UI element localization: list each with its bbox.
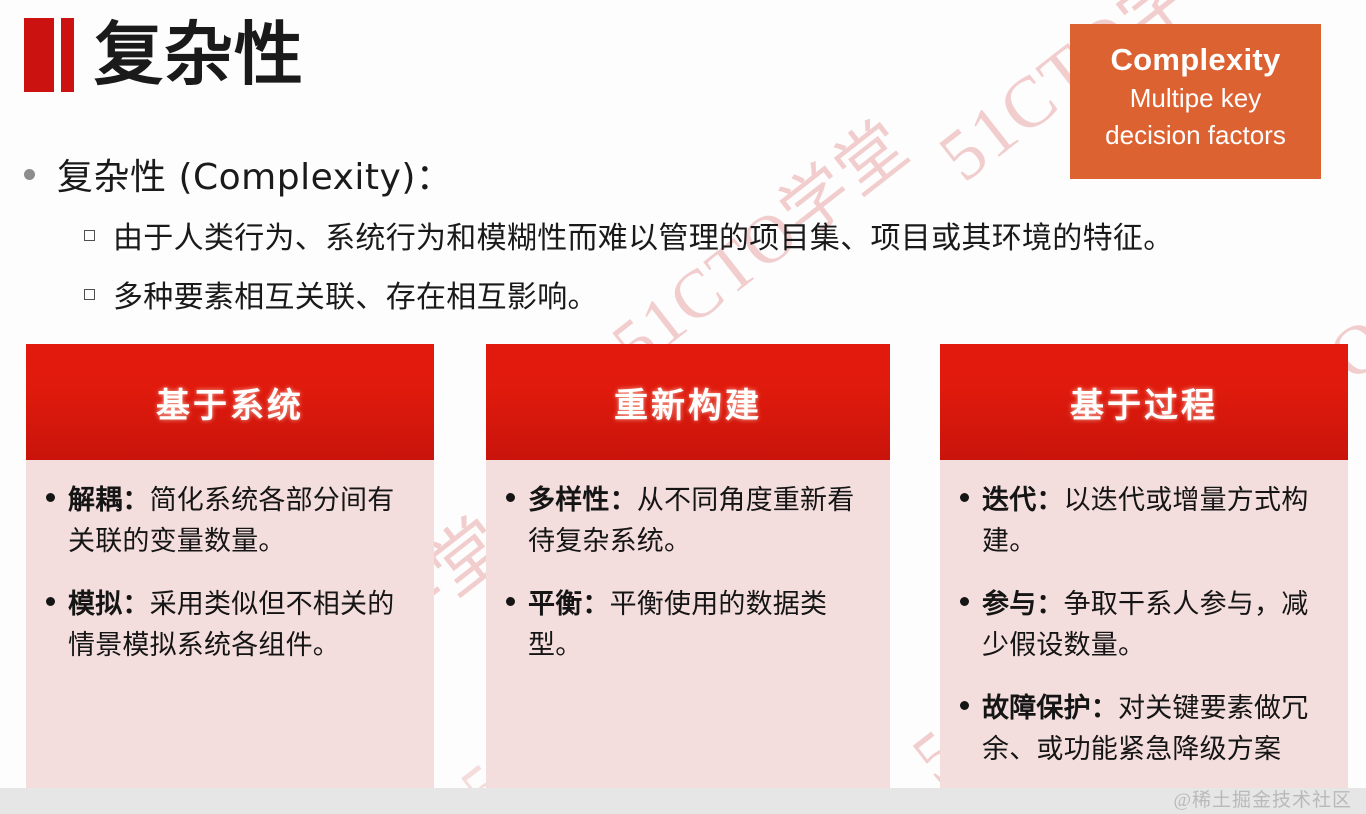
credit-watermark: @稀土掘金技术社区 xyxy=(1174,785,1353,812)
bullet-level1: 复杂性 (Complexity)： xyxy=(24,148,452,200)
bullet-dot-icon xyxy=(506,493,515,502)
badge-subtitle-line-2: decision factors xyxy=(1070,117,1321,154)
bullet-level2-text: 多种要素相互关联、存在相互影响。 xyxy=(113,272,598,316)
card-body: 迭代：以迭代或增量方式构建。 参与：争取干系人参与，减少假设数量。 故障保护：对… xyxy=(940,460,1348,814)
card-body: 多样性：从不同角度重新看待复杂系统。 平衡：平衡使用的数据类型。 xyxy=(486,460,890,795)
card-rebuild: 重新构建 多样性：从不同角度重新看待复杂系统。 平衡：平衡使用的数据类型。 xyxy=(486,344,890,795)
title-accent-bar-wide xyxy=(24,18,54,92)
bullet-level1-text: 复杂性 (Complexity)： xyxy=(57,148,452,200)
list-item-text: 多样性：从不同角度重新看待复杂系统。 xyxy=(528,480,876,562)
list-item: 参与：争取干系人参与，减少假设数量。 xyxy=(954,584,1334,666)
bullet-dot-icon xyxy=(960,597,969,606)
bullet-square-icon xyxy=(84,230,95,241)
list-item: 模拟：采用类似但不相关的情景模拟系统各组件。 xyxy=(40,584,420,666)
list-item-term: 故障保护： xyxy=(982,693,1118,724)
list-item-text: 平衡：平衡使用的数据类型。 xyxy=(528,584,876,666)
list-item-text: 参与：争取干系人参与，减少假设数量。 xyxy=(982,584,1334,666)
bullet-dot-icon xyxy=(46,493,55,502)
slide-canvas: 51CTO学堂 51CTO学堂 51CTO学堂 51CTO学堂 51CTO学堂 … xyxy=(0,0,1366,814)
list-item-term: 多样性： xyxy=(528,485,637,516)
bullet-dot-icon xyxy=(24,169,35,180)
list-item-term: 模拟： xyxy=(68,589,150,620)
card-header-text: 基于过程 xyxy=(1070,378,1218,427)
list-item-term: 参与： xyxy=(982,589,1064,620)
list-item-text: 故障保护：对关键要素做冗余、或功能紧急降级方案 xyxy=(982,688,1334,770)
bullet-level2: 多种要素相互关联、存在相互影响。 xyxy=(84,272,598,316)
complexity-badge: Complexity Multipe key decision factors xyxy=(1070,24,1321,179)
card-header: 重新构建 xyxy=(486,344,890,460)
bullet-dot-icon xyxy=(960,493,969,502)
list-item-text: 模拟：采用类似但不相关的情景模拟系统各组件。 xyxy=(68,584,420,666)
card-header: 基于系统 xyxy=(26,344,434,460)
card-body: 解耦：简化系统各部分间有关联的变量数量。 模拟：采用类似但不相关的情景模拟系统各… xyxy=(26,460,434,795)
bullet-level2: 由于人类行为、系统行为和模糊性而难以管理的项目集、项目或其环境的特征。 xyxy=(84,213,1174,257)
card-header-text: 重新构建 xyxy=(614,378,762,427)
list-item: 多样性：从不同角度重新看待复杂系统。 xyxy=(500,480,876,562)
page-title-text: 复杂性 xyxy=(94,18,304,92)
card-header: 基于过程 xyxy=(940,344,1348,460)
page-title: 复杂性 xyxy=(24,18,304,92)
bullet-dot-icon xyxy=(506,597,515,606)
list-item-term: 平衡： xyxy=(528,589,610,620)
bullet-dot-icon xyxy=(46,597,55,606)
bullet-square-icon xyxy=(84,289,95,300)
list-item-text: 迭代：以迭代或增量方式构建。 xyxy=(982,480,1334,562)
title-accent-bar-thin xyxy=(61,18,74,92)
card-process-based: 基于过程 迭代：以迭代或增量方式构建。 参与：争取干系人参与，减少假设数量。 xyxy=(940,344,1348,814)
bullet-dot-icon xyxy=(960,701,969,710)
list-item: 平衡：平衡使用的数据类型。 xyxy=(500,584,876,666)
list-item-text: 解耦：简化系统各部分间有关联的变量数量。 xyxy=(68,480,420,562)
list-item: 迭代：以迭代或增量方式构建。 xyxy=(954,480,1334,562)
badge-title: Complexity xyxy=(1070,40,1321,80)
bullet-level2-text: 由于人类行为、系统行为和模糊性而难以管理的项目集、项目或其环境的特征。 xyxy=(113,213,1174,257)
list-item: 解耦：简化系统各部分间有关联的变量数量。 xyxy=(40,480,420,562)
bottom-strip xyxy=(0,788,1366,814)
badge-subtitle-line-1: Multipe key xyxy=(1070,80,1321,117)
list-item-term: 迭代： xyxy=(982,485,1064,516)
card-header-text: 基于系统 xyxy=(156,378,304,427)
list-item: 故障保护：对关键要素做冗余、或功能紧急降级方案 xyxy=(954,688,1334,770)
card-system-based: 基于系统 解耦：简化系统各部分间有关联的变量数量。 模拟：采用类似但不相关的情景… xyxy=(26,344,434,795)
list-item-term: 解耦： xyxy=(68,485,150,516)
card-group: 基于系统 解耦：简化系统各部分间有关联的变量数量。 模拟：采用类似但不相关的情景… xyxy=(0,344,1366,794)
